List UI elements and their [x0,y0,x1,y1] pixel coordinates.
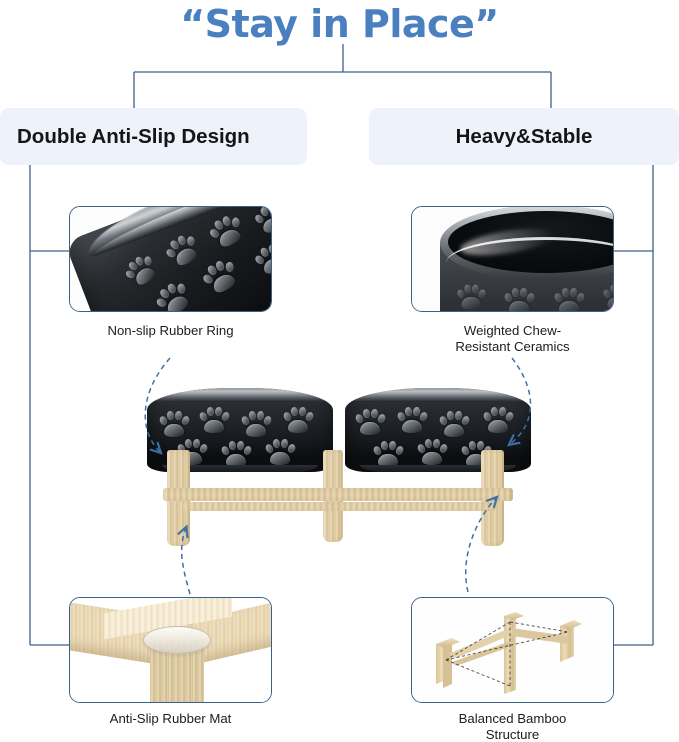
photo-panel-weighted-chew-resistant-ceramics[interactable] [411,206,614,312]
photo-panel-anti-slip-rubber-mat[interactable] [69,597,272,703]
caption-anti-slip-rubber-mat: Anti-Slip Rubber Mat [69,711,272,727]
page-title: “Stay in Place” [0,2,679,46]
category-box-heavy-and-stable[interactable]: Heavy&Stable [369,108,679,165]
center-product-photo [143,388,537,548]
photo-panel-non-slip-rubber-ring[interactable] [69,206,272,312]
stand-rail-main [163,488,513,501]
infographic-root: “Stay in Place” Double Anti-Slip Design … [0,0,679,742]
caption-weighted-chew-resistant-ceramics: Weighted Chew- Resistant Ceramics [401,323,624,354]
caption-balanced-bamboo-structure: Balanced Bamboo Structure [411,711,614,742]
photo-weighted-chew-resistant-ceramics [412,207,613,311]
caption-non-slip-rubber-ring: Non-slip Rubber Ring [69,323,272,339]
photo-anti-slip-rubber-mat [70,598,271,702]
product-bamboo-stand [143,450,537,548]
photo-non-slip-rubber-ring [70,207,271,311]
category-label: Double Anti-Slip Design [17,125,250,149]
photo-balanced-bamboo-structure [412,598,613,702]
stand-rail-lower [183,502,495,511]
photo-panel-balanced-bamboo-structure[interactable] [411,597,614,703]
category-label: Heavy&Stable [456,125,593,149]
category-box-double-anti-slip-design[interactable]: Double Anti-Slip Design [0,108,307,165]
